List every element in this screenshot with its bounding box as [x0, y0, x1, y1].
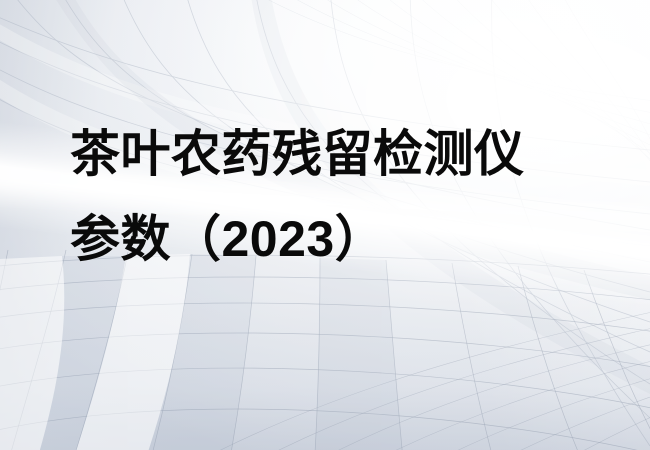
- banner-title-line-1: 茶叶农药残留检测仪: [70, 112, 630, 197]
- banner-title-line-2: 参数（2023）: [70, 197, 630, 282]
- banner-title-block: 茶叶农药残留检测仪 参数（2023）: [70, 112, 630, 282]
- title-banner: 茶叶农药残留检测仪 参数（2023）: [0, 0, 650, 450]
